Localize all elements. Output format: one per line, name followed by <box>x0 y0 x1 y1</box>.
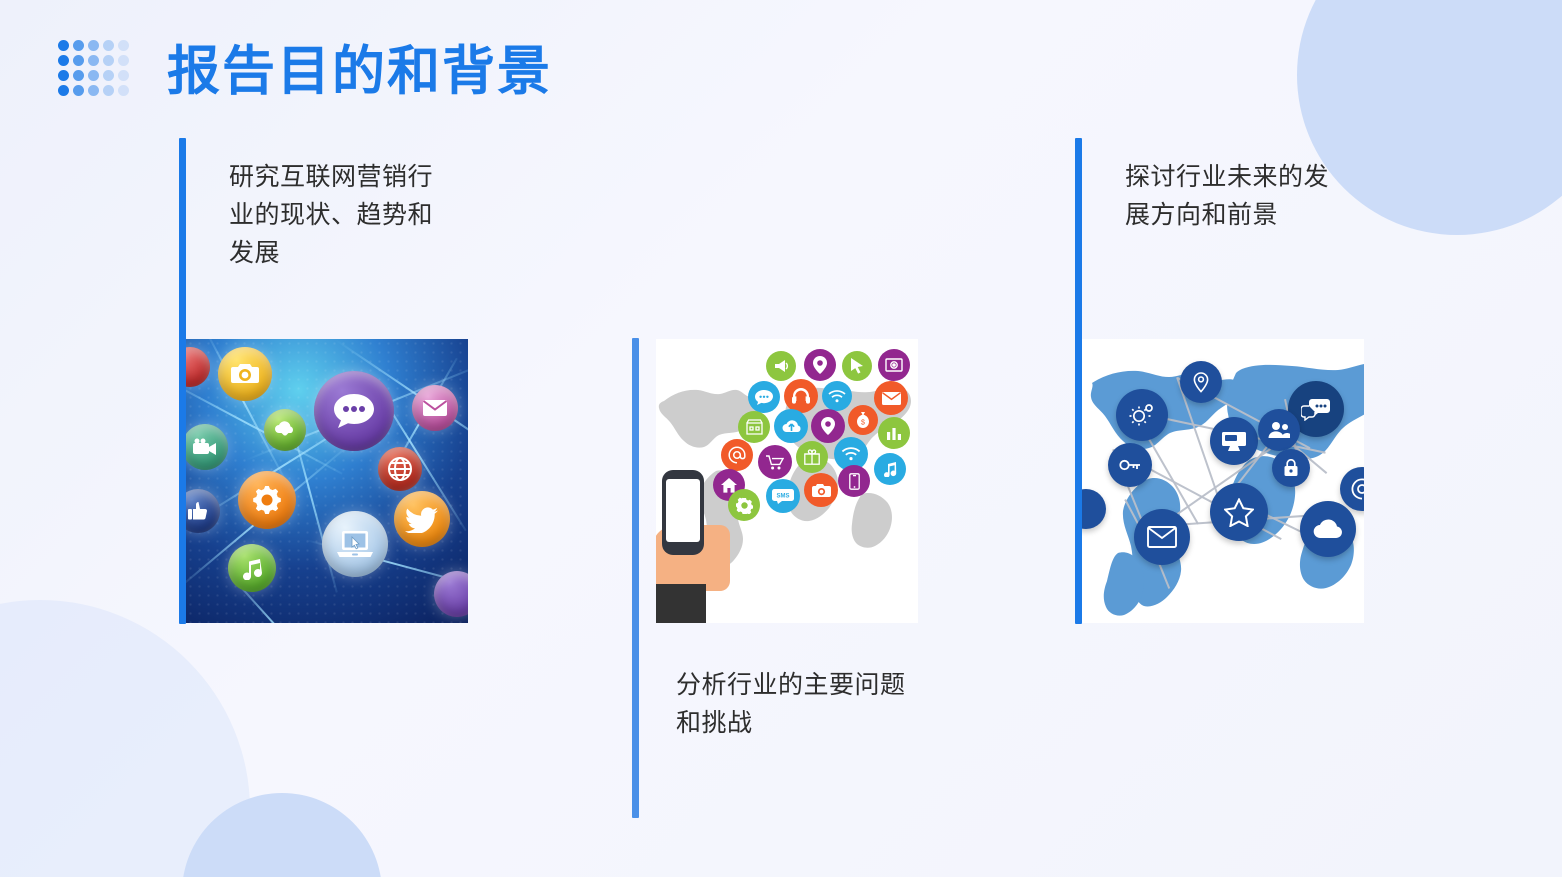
black-bar-decoration <box>656 584 706 623</box>
location-pin-icon-2 <box>811 409 845 443</box>
sms-icon: SMS <box>766 479 800 513</box>
page-title: 报告目的和背景 <box>167 38 552 106</box>
image-mobile-marketing-world: $ SMS <box>656 339 918 623</box>
megaphone-icon <box>766 351 796 381</box>
caption-column-3: 探讨行业未来的发展方向和前景 <box>1125 158 1345 234</box>
gears-icon <box>238 471 296 529</box>
cloud-icon <box>1300 501 1356 557</box>
gear-icon <box>728 489 760 521</box>
gift-icon <box>796 441 828 473</box>
store-icon <box>738 411 770 443</box>
envelope-icon-3 <box>1134 509 1190 565</box>
cloud-download-icon <box>264 409 306 451</box>
shopping-cart-icon <box>758 445 792 479</box>
monitor-icon <box>1210 417 1258 465</box>
accent-bar-column-3 <box>1075 138 1082 624</box>
caption-column-2: 分析行业的主要问题和挑战 <box>676 666 906 742</box>
upload-cloud-icon <box>774 409 808 443</box>
people-icon <box>1258 409 1300 451</box>
svg-text:SMS: SMS <box>776 493 789 499</box>
slide-root: 报告目的和背景 研究互联网营销行业的现状、趋势和发展 <box>0 0 1562 877</box>
money-bag-icon: $ <box>848 405 878 435</box>
key-icon <box>1108 443 1152 487</box>
image-global-network-map <box>1082 339 1364 623</box>
dot-grid-icon <box>58 40 133 100</box>
lock-icon <box>1272 449 1310 487</box>
music-note-icon-2 <box>874 453 906 485</box>
gears-icon-3 <box>1116 389 1168 441</box>
headphones-icon <box>784 379 818 413</box>
envelope-icon-2 <box>874 381 908 415</box>
cursor-icon <box>842 351 872 381</box>
accent-bar-column-2 <box>632 338 639 818</box>
bar-chart-icon <box>878 417 910 449</box>
star-icon <box>1210 483 1268 541</box>
smartphone-icon <box>838 465 870 497</box>
at-sign-icon <box>721 439 753 471</box>
location-pin-icon <box>804 349 836 381</box>
music-note-icon <box>228 544 276 592</box>
laptop-cursor-icon <box>322 511 388 577</box>
photo-frame-icon <box>878 349 910 381</box>
accent-bar-column-1 <box>179 138 186 624</box>
camera-icon-2 <box>804 473 838 507</box>
image-social-media-network <box>186 339 468 623</box>
location-pin-icon-3 <box>1180 361 1222 403</box>
smartphone-screen <box>666 479 700 542</box>
svg-text:$: $ <box>861 420 865 427</box>
bird-icon <box>394 491 450 547</box>
camera-icon <box>218 347 272 401</box>
globe-icon <box>378 447 422 491</box>
envelope-icon <box>412 385 458 431</box>
wifi-icon <box>822 381 852 411</box>
chat-icon <box>748 381 780 413</box>
caption-column-1: 研究互联网营销行业的现状、趋势和发展 <box>229 158 449 272</box>
chat-bubble-icon <box>314 371 394 451</box>
